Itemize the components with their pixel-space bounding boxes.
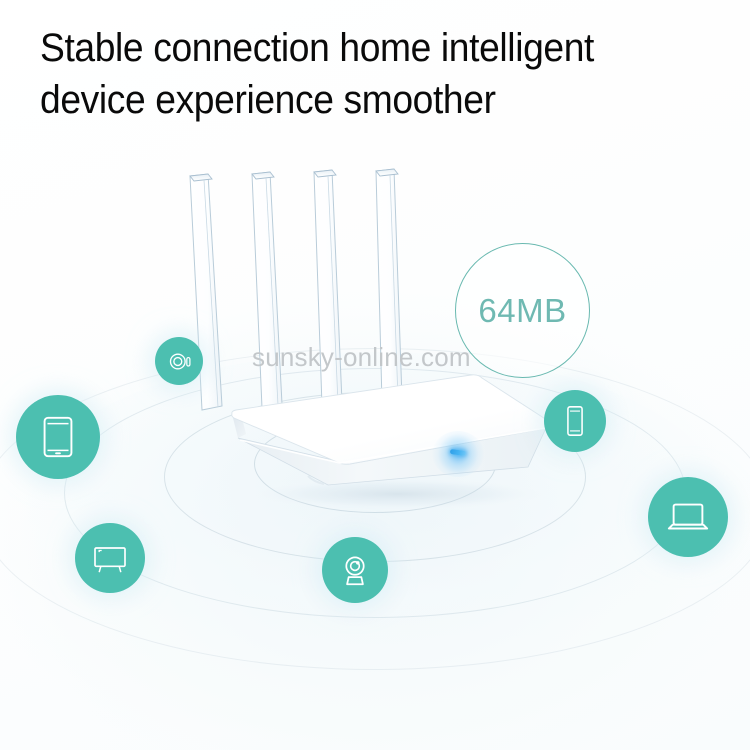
smart-speaker-icon <box>166 348 193 375</box>
antenna-4 <box>376 169 402 402</box>
device-laptop <box>648 477 728 557</box>
device-webcam <box>322 537 388 603</box>
memory-badge: 64MB <box>455 243 590 378</box>
antenna-3 <box>314 170 342 406</box>
tablet-icon <box>35 414 81 460</box>
webcam-icon <box>336 551 374 589</box>
router-body <box>228 372 558 507</box>
product-banner: Stable connection home intelligent devic… <box>0 0 750 750</box>
smartphone-icon <box>558 404 592 438</box>
device-tablet <box>16 395 100 479</box>
laptop-icon <box>665 494 711 540</box>
memory-badge-label: 64MB <box>478 292 566 330</box>
device-smartphone <box>544 390 606 452</box>
device-smart-speaker <box>155 337 203 385</box>
product-scene: 64MB sunsky-online.com <box>0 0 750 750</box>
television-icon <box>90 538 130 578</box>
device-television <box>75 523 145 593</box>
